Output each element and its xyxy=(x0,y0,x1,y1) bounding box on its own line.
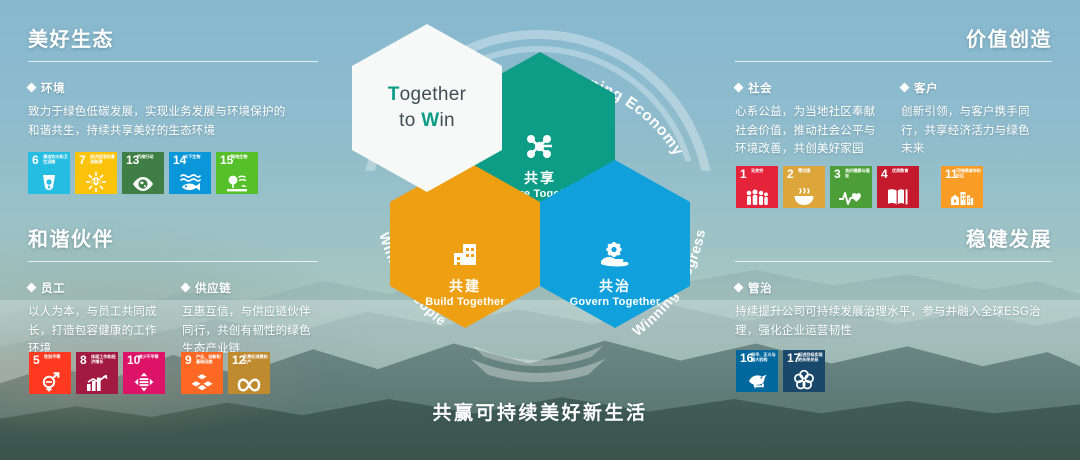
central-hex-diagram: Winning Environment, Winning Economy Win… xyxy=(352,24,728,364)
bottom-tagline: 共赢可持续美好新生活 xyxy=(0,398,1080,425)
sdg-badge-5: 5性别平等 xyxy=(29,352,71,394)
diamond-bullet-icon xyxy=(734,283,744,293)
gear-in-hand-icon xyxy=(599,242,631,273)
column-heading-employee: 员工 xyxy=(28,280,168,296)
column-body-customer: 创新引领，与客户携手同行，共享经济活力与绿色未来 xyxy=(901,103,1041,159)
sdg-caption: 经济适用的清洁能源 xyxy=(90,155,115,165)
diamond-bullet-icon xyxy=(27,83,37,93)
diamond-bullet-icon xyxy=(734,83,744,93)
growth-chart-icon xyxy=(76,373,118,392)
building-icon xyxy=(451,242,479,273)
sdg-badge-6: 6清洁饮水和卫生设施 xyxy=(28,152,70,194)
sdg-number: 6 xyxy=(32,154,39,166)
column-heading-society: 社会 xyxy=(735,80,885,96)
fish-waves-icon xyxy=(169,173,211,192)
sdg-badge-16: 16和平、正义与强大机构 xyxy=(736,350,778,392)
section-rule xyxy=(28,261,318,262)
heartbeat-icon xyxy=(830,187,872,206)
section-title-bottom-right: 稳健发展 xyxy=(735,230,1052,250)
sdg-caption: 和平、正义与强大机构 xyxy=(751,353,776,363)
sdg-number: 1 xyxy=(740,168,747,180)
sdg-badge-9: 9产业、创新和基础设施 xyxy=(181,352,223,394)
column-body-supply-chain: 互惠互信，与供应链伙伴同行，共创有韧性的绿色生态产业链 xyxy=(182,303,316,359)
column-employee: 员工 以人为本，与员工共同成长，打造包容健康的工作环境 xyxy=(28,280,168,359)
sdg-row-customer: 11可持续城市和社区 xyxy=(941,166,983,208)
sdg-caption: 可持续城市和社区 xyxy=(956,169,981,179)
section-rule xyxy=(735,61,1052,62)
water-glass-icon xyxy=(28,173,70,192)
sdg-number: 2 xyxy=(787,168,794,180)
sdg-row-supply-chain: 9产业、创新和基础设施12负责任消费和生产 xyxy=(181,352,270,394)
sdg-caption: 性别平等 xyxy=(44,355,69,360)
column-body-society: 心系公益，为当地社区奉献社会价值，推动社会公平与环境改善，共创美好家园 xyxy=(735,103,885,159)
city-buildings-icon xyxy=(941,187,983,206)
diamond-bullet-icon xyxy=(27,283,37,293)
column-society: 社会 心系公益，为当地社区奉献社会价值，推动社会公平与环境改善，共创美好家园 xyxy=(735,80,885,159)
network-nodes-icon xyxy=(525,134,555,165)
sdg-badge-7: 7经济适用的清洁能源 xyxy=(75,152,117,194)
diamond-bullet-icon xyxy=(900,83,910,93)
peace-dove-icon xyxy=(736,371,778,390)
sdg-badge-8: 8体面工作和经济增长 xyxy=(76,352,118,394)
sdg-badge-1: 1无贫穷 xyxy=(736,166,778,208)
hex-label-cn-govern: 共治 xyxy=(599,279,631,294)
sdg-caption: 良好健康与福祉 xyxy=(845,169,870,179)
section-bottom-right: 稳健发展 管治 持续提升公司可持续发展治理水平，参与并融入全球ESG治理，强化企… xyxy=(735,230,1052,340)
sdg-caption: 促进目标实现的伙伴关系 xyxy=(798,353,823,363)
sdg-caption: 陆地生物 xyxy=(231,155,256,160)
center-line-1: Together xyxy=(388,82,466,108)
column-heading-supply-chain: 供应链 xyxy=(182,280,316,296)
sdg-number: 9 xyxy=(185,354,192,366)
sdg-badge-14: 14水下生物 xyxy=(169,152,211,194)
partnership-rings-icon xyxy=(783,370,825,390)
steaming-bowl-icon xyxy=(783,187,825,206)
column-body-governance: 持续提升公司可持续发展治理水平，参与并融入全球ESG治理，强化企业运营韧性 xyxy=(735,303,1043,340)
column-heading-environment: 环境 xyxy=(28,80,286,96)
sdg-row-governance: 16和平、正义与强大机构17促进目标实现的伙伴关系 xyxy=(736,350,825,392)
section-title-bottom-left: 和谐伙伴 xyxy=(28,230,318,250)
column-body-environment: 致力于绿色低碳发展，实现业务发展与环境保护的和谐共生，持续共享美好的生态环境 xyxy=(28,103,286,140)
column-environment: 环境 致力于绿色低碳发展，实现业务发展与环境保护的和谐共生，持续共享美好的生态环… xyxy=(28,80,286,194)
column-body-employee: 以人为本，与员工共同成长，打造包容健康的工作环境 xyxy=(28,303,168,359)
sdg-caption: 气候行动 xyxy=(137,155,162,160)
sdg-number: 5 xyxy=(33,354,40,366)
hex-label-en-govern: Govern Together xyxy=(570,296,661,308)
sdg-caption: 清洁饮水和卫生设施 xyxy=(43,155,68,165)
climate-eye-icon xyxy=(122,173,164,192)
sdg-badge-2: 2零饥饿 xyxy=(783,166,825,208)
sdg-row-society: 1无贫穷2零饥饿3良好健康与福祉4优质教育 xyxy=(736,166,919,208)
infinity-icon xyxy=(228,373,270,392)
sun-power-icon xyxy=(75,172,117,192)
sdg-caption: 体面工作和经济增长 xyxy=(91,355,116,365)
section-title-top-right: 价值创造 xyxy=(735,30,1052,50)
sdg-caption: 产业、创新和基础设施 xyxy=(196,355,221,365)
gender-equality-icon xyxy=(29,372,71,392)
open-book-icon xyxy=(877,187,919,206)
sdg-badge-13: 13气候行动 xyxy=(122,152,164,194)
section-title-top-left: 美好生态 xyxy=(28,30,318,50)
sdg-number: 7 xyxy=(79,154,86,166)
column-heading-governance: 管治 xyxy=(735,280,1052,296)
sdg-number: 3 xyxy=(834,168,841,180)
sdg-caption: 负责任消费和生产 xyxy=(243,355,268,365)
sdg-caption: 无贫穷 xyxy=(751,169,776,174)
sdg-badge-3: 3良好健康与福祉 xyxy=(830,166,872,208)
hex-label-cn-build: 共建 xyxy=(449,279,481,294)
section-top-right: 价值创造 社会 心系公益，为当地社区奉献社会价值，推动社会公平与环境改善，共创美… xyxy=(735,30,1052,159)
hex-label-cn-share: 共享 xyxy=(524,171,556,186)
tree-land-icon xyxy=(216,173,258,192)
sdg-caption: 零饥饿 xyxy=(798,169,823,174)
sdg-caption: 水下生物 xyxy=(184,155,209,160)
hex-label-en-build: Build Together xyxy=(425,296,505,308)
sdg-badge-11: 11可持续城市和社区 xyxy=(941,166,983,208)
sdg-row-environment: 6清洁饮水和卫生设施7经济适用的清洁能源13气候行动14水下生物15陆地生物 xyxy=(28,152,286,194)
sdg-badge-15: 15陆地生物 xyxy=(216,152,258,194)
sdg-badge-4: 4优质教育 xyxy=(877,166,919,208)
sdg-badge-10: 10减少不平等 xyxy=(123,352,165,394)
column-heading-customer: 客户 xyxy=(901,80,1041,96)
sdg-row-employee: 5性别平等8体面工作和经济增长10减少不平等 xyxy=(29,352,165,394)
center-line-2: to Win xyxy=(399,108,455,134)
column-governance: 管治 持续提升公司可持续发展治理水平，参与并融入全球ESG治理，强化企业运营韧性 xyxy=(735,280,1052,340)
sdg-number: 4 xyxy=(881,168,888,180)
sdg-caption: 优质教育 xyxy=(892,169,917,174)
people-group-icon xyxy=(736,187,778,206)
section-top-left: 美好生态 环境 致力于绿色低碳发展，实现业务发展与环境保护的和谐共生，持续共享美… xyxy=(28,30,318,194)
sdg-caption: 减少不平等 xyxy=(138,355,163,360)
column-customer: 客户 创新引领，与客户携手同行，共享经济活力与绿色未来 xyxy=(901,80,1041,159)
reduced-inequality-icon xyxy=(123,372,165,392)
section-bottom-left: 和谐伙伴 员工 以人为本，与员工共同成长，打造包容健康的工作环境 供应链 互惠互… xyxy=(28,230,318,359)
diamond-bullet-icon xyxy=(181,283,191,293)
industry-cubes-icon xyxy=(181,373,223,392)
section-rule xyxy=(28,61,318,62)
sdg-number: 8 xyxy=(80,354,87,366)
column-supply-chain: 供应链 互惠互信，与供应链伙伴同行，共创有韧性的绿色生态产业链 xyxy=(182,280,316,359)
section-rule xyxy=(735,261,1052,262)
sdg-badge-17: 17促进目标实现的伙伴关系 xyxy=(783,350,825,392)
sdg-badge-12: 12负责任消费和生产 xyxy=(228,352,270,394)
